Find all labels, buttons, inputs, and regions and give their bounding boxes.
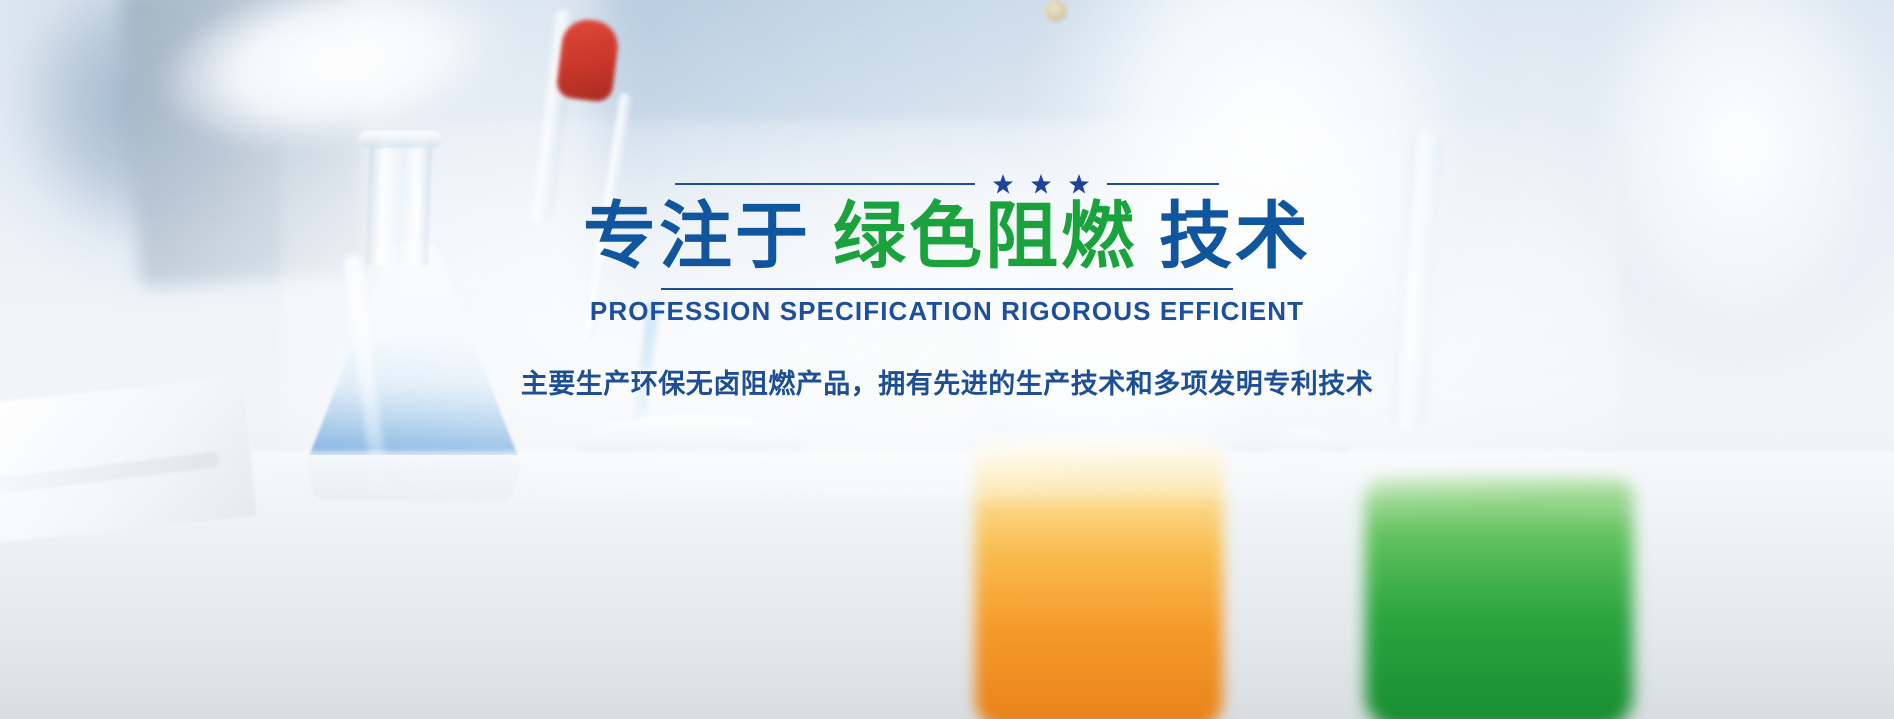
coat-button xyxy=(1045,0,1067,22)
text-readability-veil xyxy=(280,120,1620,500)
background-photo xyxy=(0,0,1894,719)
green-beaker xyxy=(1365,480,1633,719)
hero-banner: 专注于绿色阻燃技术 PROFESSION SPECIFICATION RIGOR… xyxy=(0,0,1894,719)
